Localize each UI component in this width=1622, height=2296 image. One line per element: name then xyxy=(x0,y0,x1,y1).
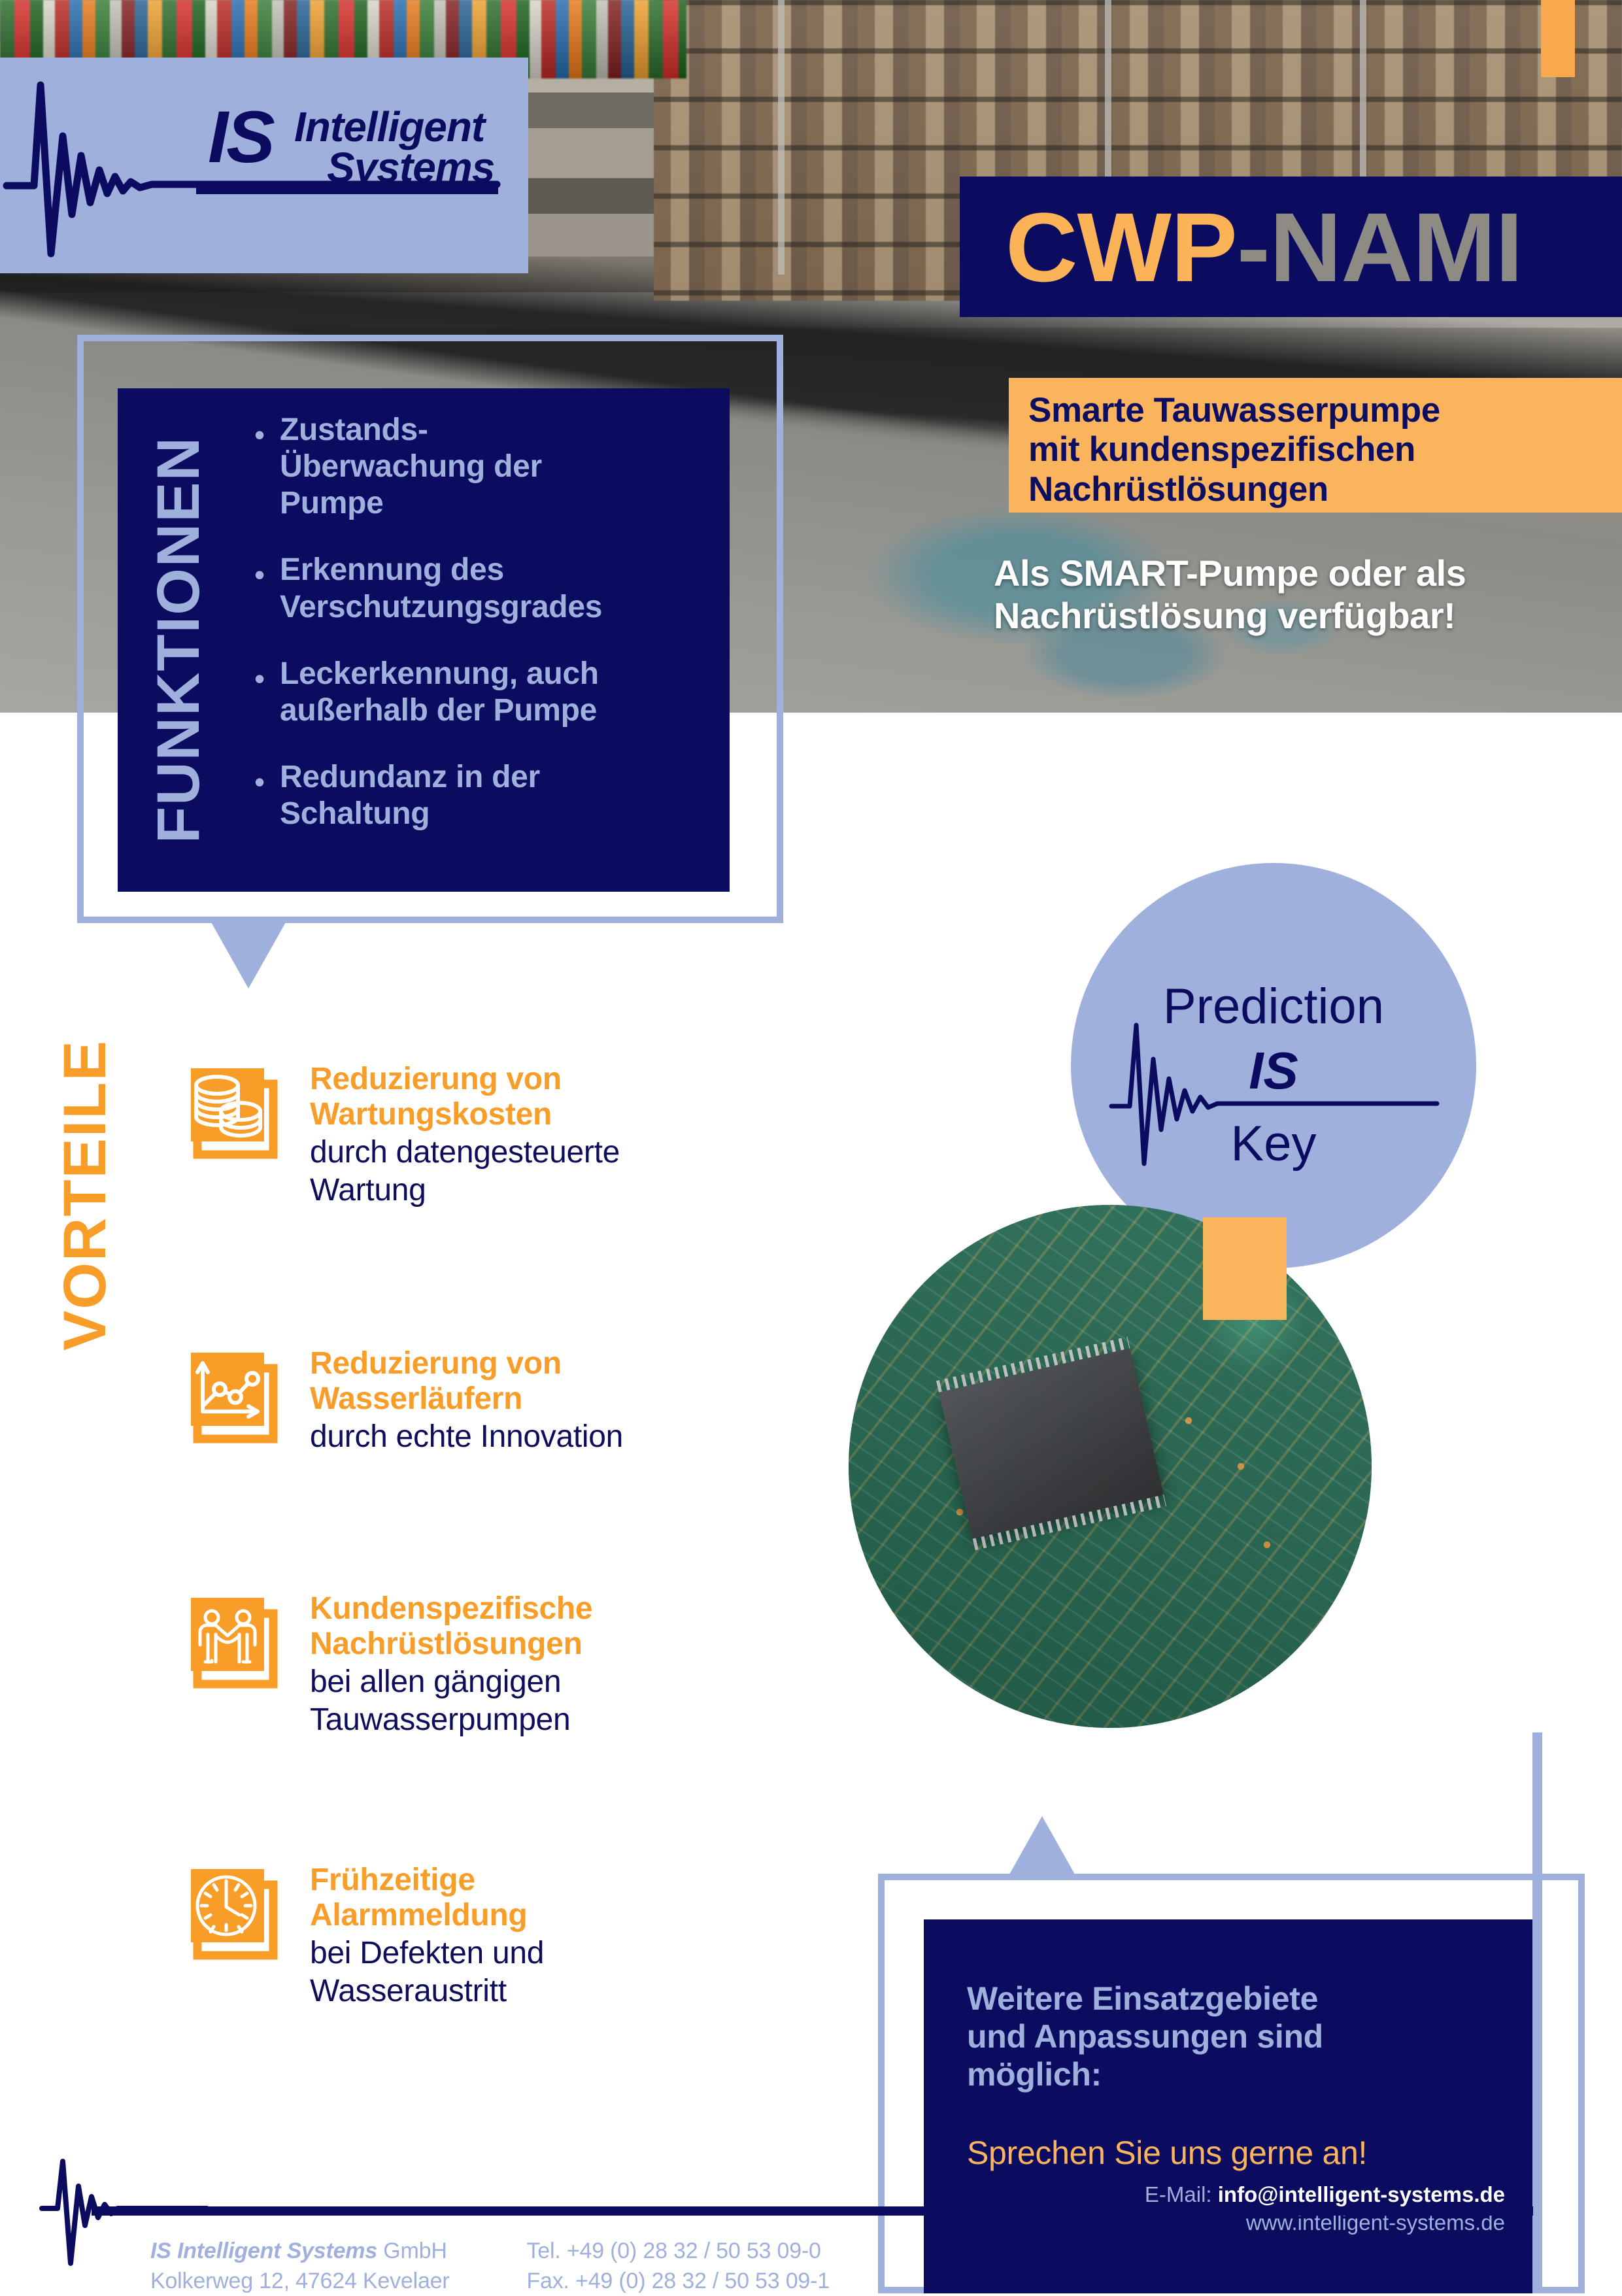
benefit-text: Reduzierung von Wartungskosten durch dat… xyxy=(310,1059,620,1210)
function-item-label: Erkennung des Verschutzungsgrades xyxy=(280,552,602,625)
benefit-title: Kundenspezifische Nachrüstlösungen xyxy=(310,1591,592,1662)
orange-accent-block-top-right xyxy=(1541,0,1575,77)
bullet-icon: • xyxy=(239,552,280,625)
footer-address: Kolkerweg 12, 47624 Kevelaer xyxy=(150,2266,449,2296)
footer-company-name: IS Intelligent Systems xyxy=(150,2238,377,2263)
functions-label: FUNKTIONEN xyxy=(144,436,213,843)
cta-subheading: Sprechen Sie uns gerne an! xyxy=(967,2134,1505,2172)
benefits-label-wrap: VORTEILE xyxy=(39,1039,131,1510)
functions-list: • Zustands- Überwachung der Pumpe • Erke… xyxy=(239,388,730,892)
footer-company-block: IS Intelligent Systems GmbH Kolkerweg 12… xyxy=(150,2236,449,2296)
clock-icon xyxy=(183,1860,288,1965)
circuit-board-photo xyxy=(849,1205,1372,1728)
bullet-icon: • xyxy=(239,759,280,832)
prediction-bottom-text: Key xyxy=(1231,1116,1317,1172)
benefit-subtitle: durch echte Innovation xyxy=(310,1418,623,1457)
bullet-icon: • xyxy=(239,656,280,729)
benefit-item: Reduzierung von Wasserläufern durch echt… xyxy=(183,1343,876,1456)
benefits-label: VORTEILE xyxy=(51,1039,120,1351)
cta-speech-tail xyxy=(1007,1816,1077,1879)
photo-overlay xyxy=(849,1205,1372,1728)
function-item: • Redundanz in der Schaltung xyxy=(239,759,697,832)
title-part-primary: CWP xyxy=(1005,192,1237,302)
benefit-text: Kundenspezifische Nachrüstlösungen bei a… xyxy=(310,1589,592,1740)
functions-label-wrap: FUNKTIONEN xyxy=(118,388,239,892)
subtitle-line: Smarte Tauwasserpumpe xyxy=(1028,391,1604,430)
benefit-item: Reduzierung von Wartungskosten durch dat… xyxy=(183,1059,876,1210)
svg-text:IS: IS xyxy=(208,96,275,178)
benefit-title: Frühzeitige Alarmmeldung xyxy=(310,1863,544,1933)
function-item: • Zustands- Überwachung der Pumpe xyxy=(239,412,697,522)
subtitle-line: mit kundenspezifischen xyxy=(1028,430,1604,469)
handshake-icon xyxy=(183,1589,288,1693)
company-logo-panel: IS Intelligent Systems xyxy=(0,58,528,273)
email-label: E-Mail: xyxy=(1145,2182,1212,2206)
title-part-secondary: -NAMI xyxy=(1237,192,1523,302)
page-title: CWP-NAMI xyxy=(1005,198,1523,296)
cta-panel: Weitere Einsatzgebiete und Anpassungen s… xyxy=(924,1919,1542,2293)
benefit-item: Kundenspezifische Nachrüstlösungen bei a… xyxy=(183,1589,876,1740)
benefit-text: Frühzeitige Alarmmeldung bei Defekten un… xyxy=(310,1860,544,2011)
product-title-bar: CWP-NAMI xyxy=(960,177,1622,317)
footer-divider xyxy=(92,2206,1533,2216)
benefit-subtitle: bei Defekten und Wasseraustritt xyxy=(310,1934,544,2011)
is-intelligent-systems-logo: IS Intelligent Systems xyxy=(0,58,528,273)
function-item: • Erkennung des Verschutzungsgrades xyxy=(239,552,697,625)
coins-icon xyxy=(183,1059,288,1164)
benefit-title: Reduzierung von Wasserläufern xyxy=(310,1346,623,1417)
benefit-title: Reduzierung von Wartungskosten xyxy=(310,1062,620,1132)
product-subtitle-box: Smarte Tauwasserpumpe mit kundenspezifis… xyxy=(1009,378,1622,513)
subtitle-line: Nachrüstlösungen xyxy=(1028,470,1604,509)
bullet-icon: • xyxy=(239,412,280,522)
cta-email-line[interactable]: E-Mail: info@intelligent-systems.de xyxy=(1145,2181,1505,2209)
benefit-text: Reduzierung von Wasserläufern durch echt… xyxy=(310,1343,623,1456)
email-address[interactable]: info@intelligent-systems.de xyxy=(1218,2182,1505,2206)
footer-columns: IS Intelligent Systems GmbH Kolkerweg 12… xyxy=(150,2236,830,2296)
shelf-column xyxy=(778,0,785,275)
function-item-label: Redundanz in der Schaltung xyxy=(280,759,540,832)
footer-contact-block: Tel. +49 (0) 28 32 / 50 53 09-0 Fax. +49… xyxy=(526,2236,830,2296)
footer-company-suffix: GmbH xyxy=(377,2238,447,2263)
footer-telephone: Tel. +49 (0) 28 32 / 50 53 09-0 xyxy=(526,2236,830,2266)
function-item: • Leckerkennung, auch außerhalb der Pump… xyxy=(239,656,697,729)
right-edge-rule xyxy=(1532,1732,1542,2293)
function-item-label: Zustands- Überwachung der Pumpe xyxy=(280,412,542,522)
function-item-label: Leckerkennung, auch außerhalb der Pumpe xyxy=(280,656,599,729)
footer-company-line: IS Intelligent Systems GmbH xyxy=(150,2236,449,2266)
footer-fax: Fax. +49 (0) 28 32 / 50 53 09-1 xyxy=(526,2266,830,2296)
benefit-subtitle: bei allen gängigen Tauwasserpumpen xyxy=(310,1663,592,1740)
functions-panel: FUNKTIONEN • Zustands- Überwachung der P… xyxy=(118,388,730,892)
benefit-subtitle: durch datengesteuerte Wartung xyxy=(310,1134,620,1210)
cta-heading: Weitere Einsatzgebiete und Anpassungen s… xyxy=(967,1980,1505,2093)
availability-claim: Als SMART-Pumpe oder als Nachrüstlösung … xyxy=(994,552,1622,637)
prediction-mid-text: IS xyxy=(1249,1041,1298,1100)
line-chart-icon xyxy=(183,1343,288,1448)
prediction-top-text: Prediction xyxy=(1163,979,1384,1034)
svg-text:Systems: Systems xyxy=(327,144,494,191)
claim-line: Als SMART-Pumpe oder als xyxy=(994,552,1622,595)
orange-accent-block-circuit xyxy=(1203,1217,1287,1320)
claim-line: Nachrüstlösung verfügbar! xyxy=(994,595,1622,637)
functions-speech-tail xyxy=(208,917,289,988)
benefit-item: Frühzeitige Alarmmeldung bei Defekten un… xyxy=(183,1860,876,2011)
